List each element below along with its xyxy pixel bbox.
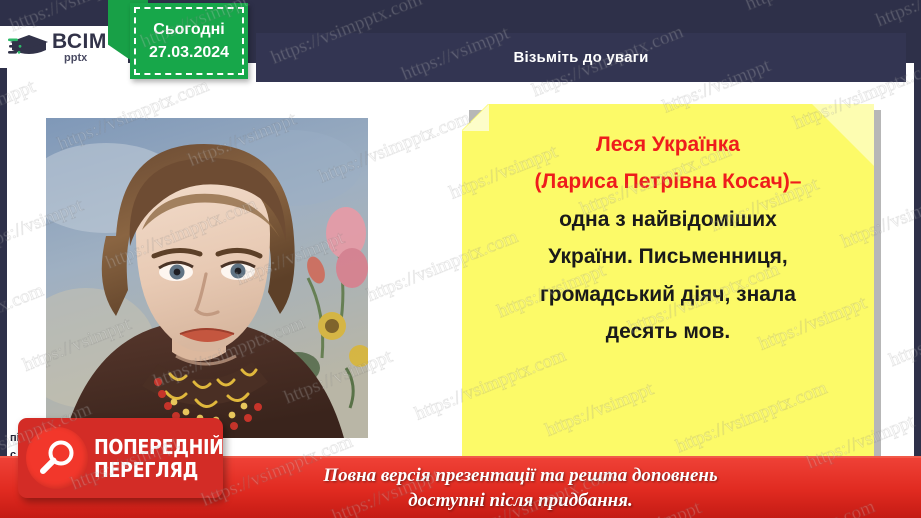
- note-line-3: одна з найвідоміших: [480, 201, 856, 238]
- date-badge-label: Сьогодні: [153, 18, 224, 41]
- date-badge: Сьогодні 27.03.2024: [130, 3, 248, 79]
- note-line-4: України. Письменниця,: [480, 238, 856, 275]
- slide-title: Візьміть до уваги: [513, 49, 648, 66]
- preview-badge-circle: [26, 427, 88, 489]
- graduation-cap-icon: [8, 30, 50, 64]
- logo-subtitle: pptx: [64, 53, 87, 64]
- preview-badge-line2: ПЕРЕГЛЯД: [94, 460, 224, 480]
- note-line-5: громадський діяч, знала: [480, 276, 856, 313]
- purchase-banner-line2: доступні після придбання.: [323, 488, 717, 513]
- note-line-1: Леся Українка: [480, 126, 856, 163]
- note-line-2: (Лариса Петрівна Косач)–: [480, 163, 856, 200]
- purchase-banner-line1: Повна версія презентації та решта доповн…: [323, 463, 717, 488]
- note-line-6: десять мов.: [480, 313, 856, 350]
- portrait-illustration: [46, 118, 368, 438]
- slide-title-bar: Візьміть до уваги: [256, 33, 906, 82]
- date-badge-value: 27.03.2024: [149, 41, 229, 64]
- preview-badge[interactable]: ПОПЕРЕДНІЙ ПЕРЕГЛЯД: [18, 418, 223, 498]
- logo-brand: ВСІМ: [52, 31, 107, 52]
- preview-badge-line1: ПОПЕРЕДНІЙ: [94, 437, 224, 457]
- presentation-slide: пі с: [0, 0, 921, 518]
- info-note: Леся Українка (Лариса Петрівна Косач)– о…: [462, 104, 874, 461]
- lesya-ukrainka-portrait: [46, 118, 368, 438]
- magnifier-icon: [37, 438, 77, 478]
